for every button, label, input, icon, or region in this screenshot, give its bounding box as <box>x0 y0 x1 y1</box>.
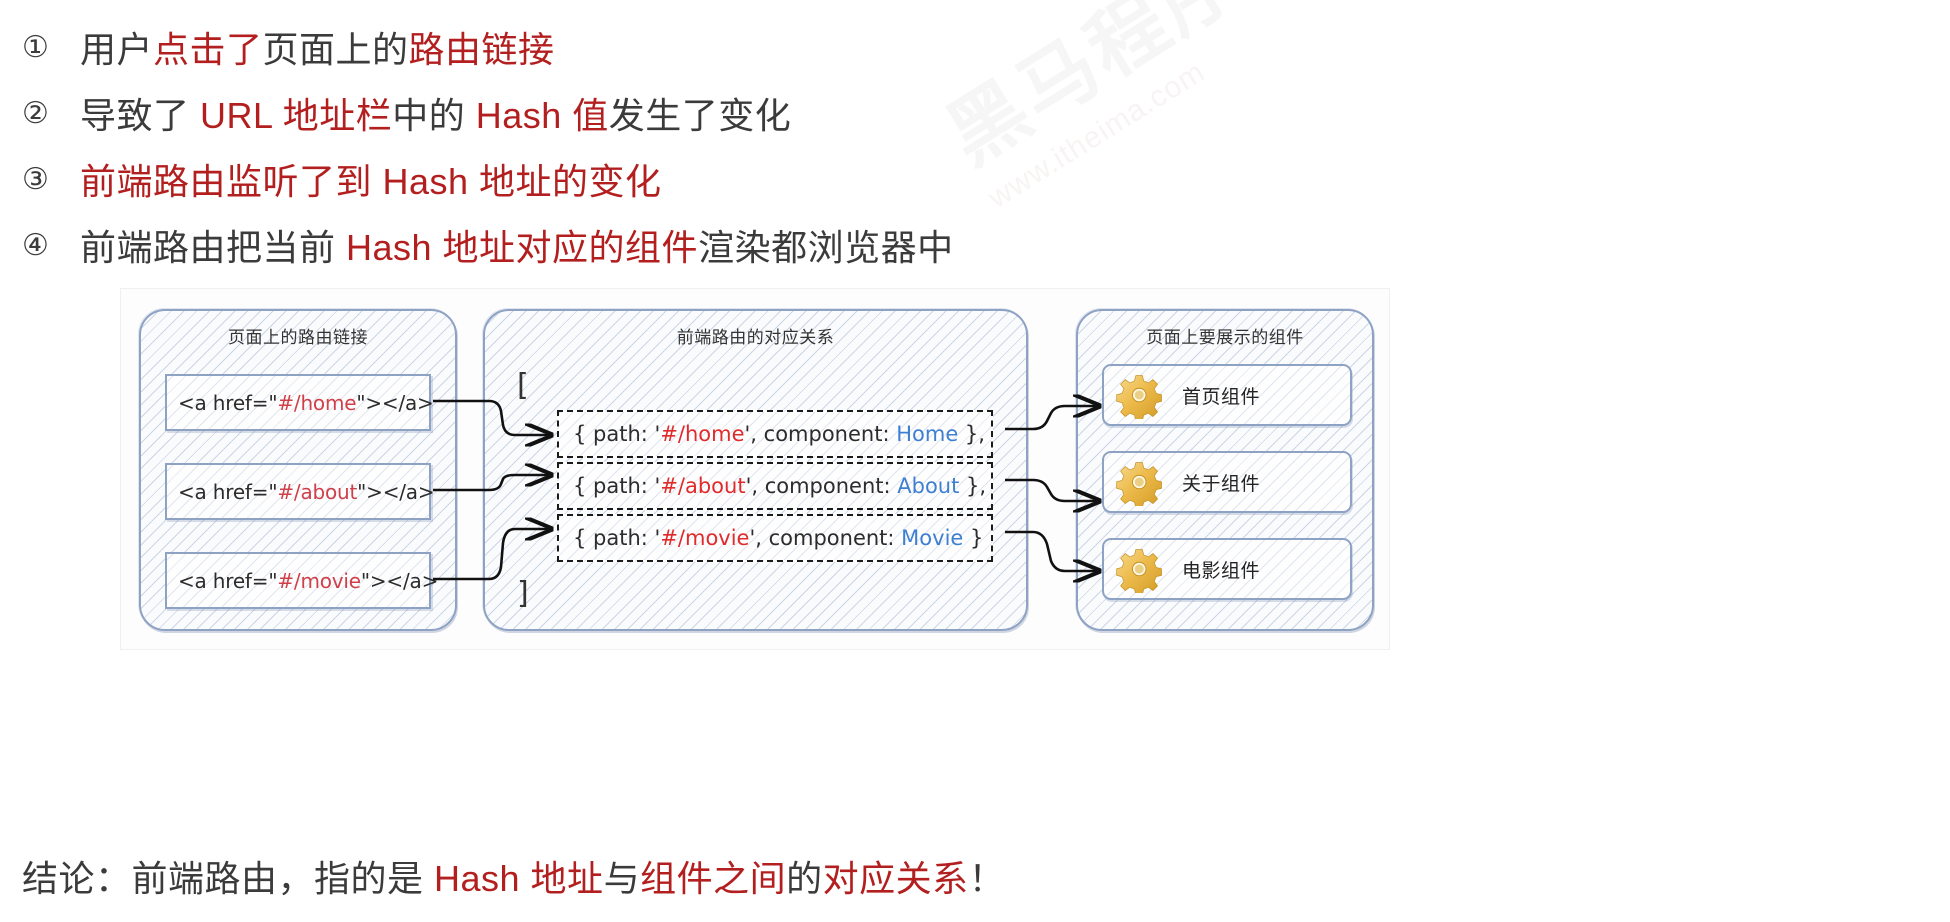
gear-icon <box>1116 545 1164 593</box>
component-label: 首页组件 <box>1182 382 1260 409</box>
step-text-segment: 发生了变化 <box>609 95 792 136</box>
component-box-home[interactable]: 首页组件 <box>1102 364 1352 426</box>
step-number: ① <box>22 30 80 65</box>
route-mid: ', component: <box>749 526 901 550</box>
link-prefix: <a href=" <box>178 391 277 415</box>
step-text-segment: 点击了 <box>153 29 263 70</box>
route-lead: { path: ' <box>573 422 660 446</box>
route-mid: ', component: <box>746 474 898 498</box>
link-suffix: "></a> <box>356 391 433 415</box>
step-text-segment: 前端路由把当前 <box>80 227 346 268</box>
conclusion-segment: 对应关系 <box>823 858 969 899</box>
route-lead: { path: ' <box>573 526 660 550</box>
step-text: 前端路由把当前 Hash 地址对应的组件渲染都浏览器中 <box>80 219 954 271</box>
link-path: #/about <box>277 480 357 504</box>
link-prefix: <a href=" <box>178 480 277 504</box>
step-item: ③ 前端路由监听了到 Hash 地址的变化 <box>0 146 1300 212</box>
route-path: #/about <box>660 474 745 498</box>
route-link-box-movie[interactable]: <a href="#/movie"></a> <box>165 552 431 609</box>
component-box-about[interactable]: 关于组件 <box>1102 451 1352 513</box>
step-item: ① 用户点击了页面上的路由链接 <box>0 14 1300 80</box>
array-open-bracket: [ <box>517 368 529 403</box>
component-label: 关于组件 <box>1182 469 1260 496</box>
step-item: ④ 前端路由把当前 Hash 地址对应的组件渲染都浏览器中 <box>0 212 1300 278</box>
gear-icon <box>1116 371 1164 419</box>
gear-icon <box>1116 458 1164 506</box>
step-list: ① 用户点击了页面上的路由链接 ② 导致了 URL 地址栏中的 Hash 值发生… <box>0 0 1300 278</box>
route-link-box-home[interactable]: <a href="#/home"></a> <box>165 374 431 431</box>
route-lead: { path: ' <box>573 474 660 498</box>
conclusion-text: 结论：前端路由，指的是 Hash 地址与组件之间的对应关系！ <box>22 850 1005 902</box>
conclusion-segment: 与 <box>604 858 641 899</box>
route-tail: }, <box>958 422 985 446</box>
component-label: 电影组件 <box>1182 556 1260 583</box>
route-component: About <box>897 474 959 498</box>
step-text-segment: 路由链接 <box>409 29 555 70</box>
conclusion-segment: ！ <box>969 858 1006 899</box>
route-entry-home[interactable]: { path: '#/home', component: Home }, <box>557 410 993 458</box>
step-text-segment: Hash 值 <box>476 95 609 136</box>
route-path: #/home <box>660 422 744 446</box>
route-component: Home <box>896 422 958 446</box>
route-entry-text: { path: '#/movie', component: Movie } <box>573 526 983 550</box>
conclusion-segment: 结论：前端路由，指的是 <box>22 858 434 899</box>
link-path: #/movie <box>277 569 361 593</box>
link-suffix: "></a> <box>361 569 438 593</box>
panel-components: 页面上要展示的组件 首页组件 关于组件 <box>1076 309 1374 631</box>
conclusion-segment: Hash 地址 <box>434 858 604 899</box>
step-number: ③ <box>22 162 80 197</box>
panel-route-links: 页面上的路由链接 <a href="#/home"></a> <a href="… <box>139 309 457 631</box>
route-mid: ', component: <box>745 422 897 446</box>
panel-route-links-title: 页面上的路由链接 <box>141 323 455 348</box>
step-text-segment: 页面上的 <box>263 29 409 70</box>
step-item: ② 导致了 URL 地址栏中的 Hash 值发生了变化 <box>0 80 1300 146</box>
route-link-code: <a href="#/home"></a> <box>178 391 434 415</box>
panel-route-map-title: 前端路由的对应关系 <box>485 323 1026 348</box>
array-close-bracket: ] <box>517 576 529 611</box>
step-text: 前端路由监听了到 Hash 地址的变化 <box>80 153 662 205</box>
route-entry-text: { path: '#/home', component: Home }, <box>573 422 985 446</box>
step-number: ④ <box>22 228 80 263</box>
route-tail: } <box>963 526 983 550</box>
routing-diagram: 页面上的路由链接 <a href="#/home"></a> <a href="… <box>120 288 1390 650</box>
route-component: Movie <box>901 526 963 550</box>
conclusion-segment: 组件之间 <box>640 858 786 899</box>
link-path: #/home <box>277 391 356 415</box>
panel-route-map: 前端路由的对应关系 [ ] { path: '#/home', componen… <box>483 309 1028 631</box>
link-prefix: <a href=" <box>178 569 277 593</box>
component-box-movie[interactable]: 电影组件 <box>1102 538 1352 600</box>
step-text-segment: 前端路由监听了到 Hash 地址的变化 <box>80 161 662 202</box>
route-link-code: <a href="#/about"></a> <box>178 480 434 504</box>
step-number: ② <box>22 96 80 131</box>
step-text-segment: 中的 <box>392 95 476 136</box>
link-suffix: "></a> <box>357 480 434 504</box>
step-text-segment: Hash 地址对应的组件 <box>346 227 698 268</box>
step-text-segment: 渲染都浏览器中 <box>698 227 954 268</box>
conclusion-segment: 的 <box>786 858 823 899</box>
route-entry-movie[interactable]: { path: '#/movie', component: Movie } <box>557 514 993 562</box>
step-text-segment: 导致了 <box>80 95 200 136</box>
step-text-segment: URL 地址栏 <box>200 95 392 136</box>
route-link-box-about[interactable]: <a href="#/about"></a> <box>165 463 431 520</box>
step-text: 导致了 URL 地址栏中的 Hash 值发生了变化 <box>80 87 791 139</box>
panel-components-title: 页面上要展示的组件 <box>1078 323 1372 348</box>
route-path: #/movie <box>660 526 749 550</box>
route-entry-text: { path: '#/about', component: About }, <box>573 474 986 498</box>
route-link-code: <a href="#/movie"></a> <box>178 569 438 593</box>
step-text-segment: 用户 <box>80 29 153 70</box>
route-entry-about[interactable]: { path: '#/about', component: About }, <box>557 462 993 510</box>
step-text: 用户点击了页面上的路由链接 <box>80 21 555 73</box>
route-tail: }, <box>959 474 986 498</box>
